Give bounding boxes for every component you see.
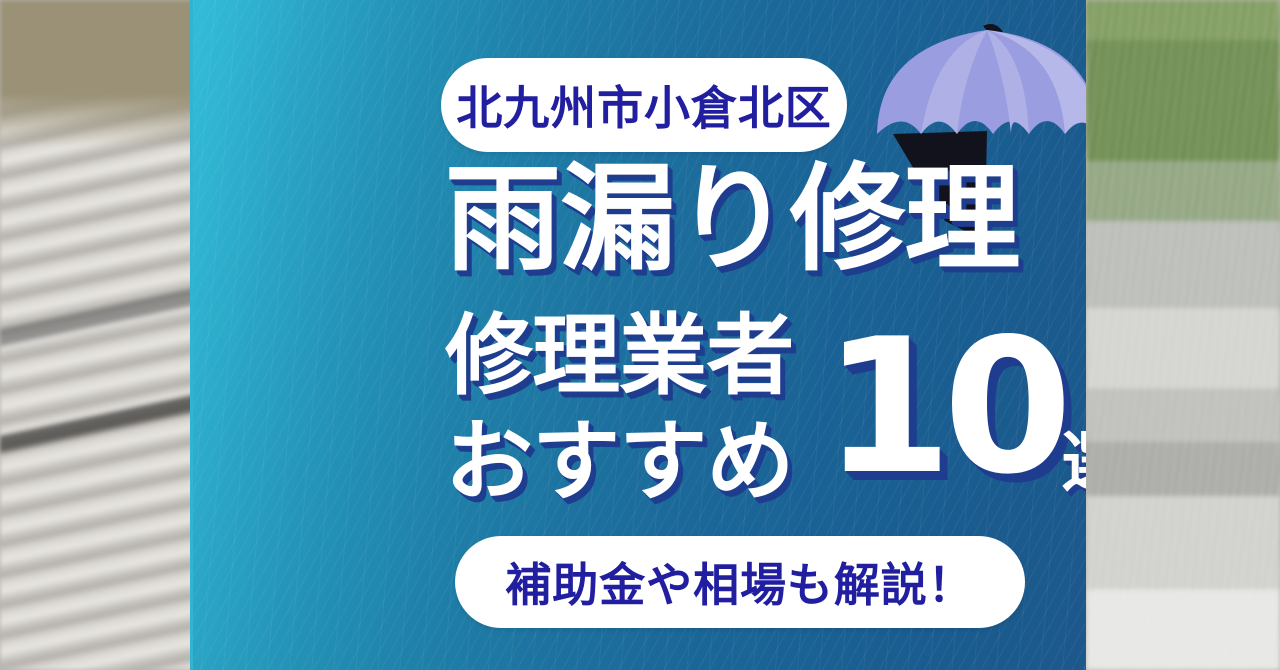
footer-badge-label: 補助金や相場も解説！ <box>505 549 974 615</box>
count-suffix: 選 <box>1061 430 1086 496</box>
roof-tile-photo <box>0 0 196 670</box>
page-title: 雨漏り修理 <box>445 162 1019 278</box>
count-number: 10 <box>823 314 1063 500</box>
region-badge: 北九州市小倉北区 <box>441 58 847 152</box>
subtitle-line-1: 修理業者 <box>445 312 793 400</box>
banner-image: 北九州市小倉北区 雨漏り修理 修理業者 おすすめ 10 選 補助金や相場も解説！ <box>0 0 1280 670</box>
rainy-window-photo <box>1086 0 1280 670</box>
main-panel: 北九州市小倉北区 雨漏り修理 修理業者 おすすめ 10 選 補助金や相場も解説！ <box>193 0 1086 670</box>
subtitle-line-2: おすすめ <box>445 418 793 506</box>
footer-badge: 補助金や相場も解説！ <box>455 536 1025 628</box>
region-badge-label: 北九州市小倉北区 <box>456 72 831 138</box>
